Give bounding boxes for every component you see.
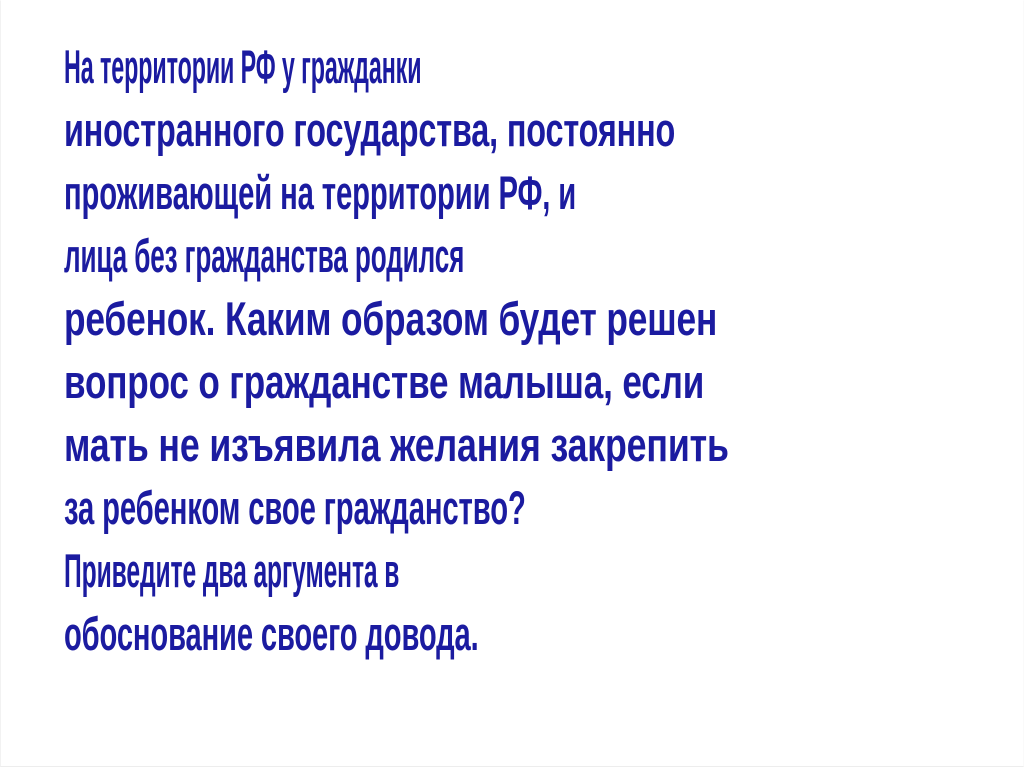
slide-text-block: На территории РФ у гражданки иностранног… bbox=[64, 35, 964, 665]
slide-text-line: обоснование своего довода. bbox=[64, 602, 622, 665]
slide-text-line: Приведите два аргумента в bbox=[64, 539, 536, 602]
slide-text-line: за ребенком свое гражданство? bbox=[64, 476, 624, 539]
slide-text-line: вопрос о гражданстве малыша, если bbox=[64, 350, 736, 413]
slide-text-line: На территории РФ у гражданки bbox=[64, 35, 510, 98]
slide-text-line: проживающей на территории РФ, и bbox=[64, 161, 624, 224]
slide-canvas: На территории РФ у гражданки иностранног… bbox=[0, 0, 1024, 767]
slide-text-line: иностранного государства, постоянно bbox=[64, 98, 684, 161]
slide-text-line: лица без гражданства родился bbox=[64, 224, 564, 287]
slide-text-line: мать не изъявила желания закрепить bbox=[64, 413, 748, 476]
slide-text-line: ребенок. Каким образом будет решен bbox=[64, 287, 740, 350]
